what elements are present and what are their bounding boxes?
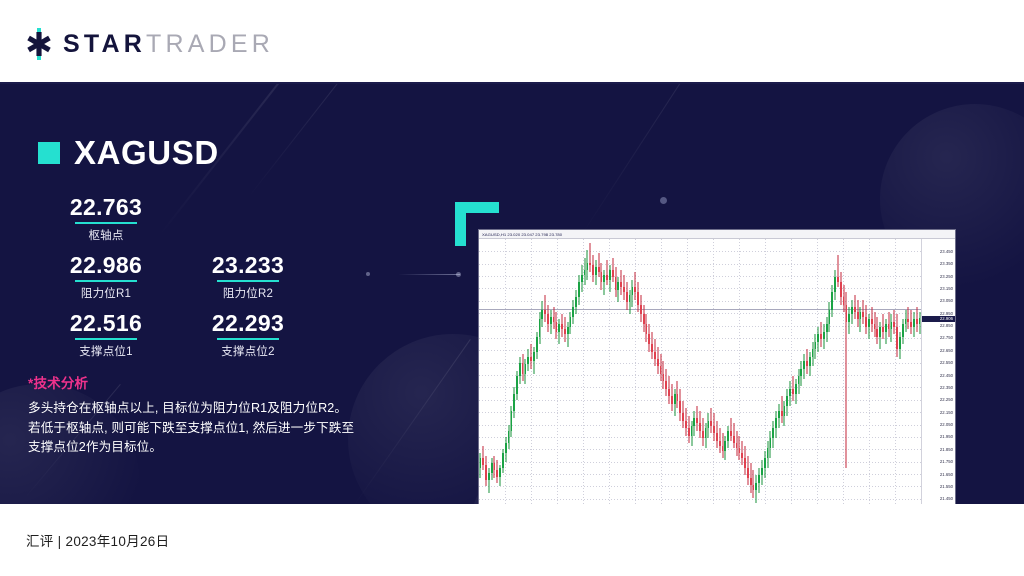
candle-body bbox=[682, 413, 684, 420]
candle-body bbox=[803, 361, 805, 368]
chart-candle bbox=[564, 239, 566, 504]
chart-candle bbox=[522, 239, 524, 504]
candle-body bbox=[817, 334, 819, 341]
candle-body bbox=[826, 324, 828, 331]
chart-candle bbox=[634, 239, 636, 504]
chart-price-axis[interactable]: 23.45023.35023.25023.15023.05022.95022.8… bbox=[921, 239, 955, 504]
candle-body bbox=[603, 275, 605, 282]
chart-candle bbox=[778, 239, 780, 504]
candle-body bbox=[612, 270, 614, 277]
chart-candle bbox=[806, 239, 808, 504]
chart-candle bbox=[485, 239, 487, 504]
candle-body bbox=[862, 312, 864, 317]
candle-body bbox=[876, 329, 878, 336]
chart-candle bbox=[902, 239, 904, 504]
candle-body bbox=[916, 319, 918, 324]
chart-candle bbox=[874, 239, 876, 504]
candle-body bbox=[722, 446, 724, 451]
candle-wick bbox=[545, 295, 546, 322]
candle-body bbox=[823, 332, 825, 339]
chart-plot-area[interactable] bbox=[479, 239, 921, 504]
resistance-row: 22.986 阻力位R1 23.233 阻力位R2 bbox=[38, 252, 318, 310]
level-r2: 23.233 阻力位R2 bbox=[192, 252, 304, 301]
diagonal-streak bbox=[580, 84, 706, 237]
chart-candle bbox=[668, 239, 670, 504]
chart-candle bbox=[913, 239, 915, 504]
brand-name-light: TRADER bbox=[146, 30, 274, 58]
candle-body bbox=[710, 421, 712, 426]
candle-wick bbox=[868, 314, 869, 339]
current-price-tag: 22.906 bbox=[921, 316, 955, 322]
chart-candle bbox=[891, 239, 893, 504]
chart-candle bbox=[820, 239, 822, 504]
price-tick-label: 23.450 bbox=[940, 249, 953, 254]
candle-body bbox=[544, 310, 546, 315]
candle-body bbox=[843, 297, 845, 304]
chart-candle bbox=[767, 239, 769, 504]
candle-body bbox=[837, 277, 839, 282]
candle-body bbox=[727, 431, 729, 441]
candle-body bbox=[567, 327, 569, 334]
chart-candle bbox=[840, 239, 842, 504]
candle-body bbox=[595, 267, 597, 274]
candle-body bbox=[899, 337, 901, 349]
candle-body bbox=[733, 436, 735, 443]
candle-body bbox=[632, 287, 634, 294]
candle-body bbox=[606, 275, 608, 280]
candle-body bbox=[572, 307, 574, 317]
chart-candle bbox=[812, 239, 814, 504]
candle-body bbox=[778, 411, 780, 418]
chart-candle bbox=[536, 239, 538, 504]
candle-body bbox=[589, 263, 591, 265]
chart-candle bbox=[609, 239, 611, 504]
candle-body bbox=[696, 418, 698, 423]
chart-candle bbox=[519, 239, 521, 504]
candle-body bbox=[581, 275, 583, 282]
level-underline bbox=[75, 280, 137, 282]
analysis-heading: *技术分析 bbox=[28, 372, 418, 392]
candle-wick bbox=[607, 260, 608, 285]
decor-dot bbox=[660, 197, 667, 204]
candle-wick bbox=[730, 418, 731, 440]
chart-candle bbox=[541, 239, 543, 504]
candle-body bbox=[891, 322, 893, 329]
chart-candle bbox=[691, 239, 693, 504]
candle-body bbox=[505, 443, 507, 453]
candlestick-chart-window[interactable]: XAGUSD,H1 23.020 23.047 23.798 23.780 23… bbox=[478, 229, 956, 504]
chart-candle bbox=[496, 239, 498, 504]
level-underline bbox=[217, 280, 279, 282]
chart-candle bbox=[857, 239, 859, 504]
chart-candle bbox=[632, 239, 634, 504]
chart-candle bbox=[643, 239, 645, 504]
candle-body bbox=[719, 441, 721, 446]
candle-body bbox=[905, 319, 907, 324]
chart-candle bbox=[584, 239, 586, 504]
chart-candle bbox=[865, 239, 867, 504]
chart-candle bbox=[716, 239, 718, 504]
chart-candle bbox=[744, 239, 746, 504]
candle-body bbox=[491, 463, 493, 473]
price-tick-label: 22.650 bbox=[940, 348, 953, 353]
chart-candle bbox=[798, 239, 800, 504]
price-tick-label: 21.550 bbox=[940, 484, 953, 489]
candle-body bbox=[840, 282, 842, 297]
candle-body bbox=[758, 475, 760, 482]
level-pivot-value: 22.763 bbox=[50, 194, 162, 221]
chart-candle bbox=[556, 239, 558, 504]
chart-candle bbox=[539, 239, 541, 504]
candle-body bbox=[617, 282, 619, 289]
chart-candle bbox=[626, 239, 628, 504]
chart-candle bbox=[679, 239, 681, 504]
candle-body bbox=[587, 263, 589, 270]
chart-candle bbox=[595, 239, 597, 504]
candle-body bbox=[609, 270, 611, 280]
chart-candle bbox=[688, 239, 690, 504]
chart-candle bbox=[617, 239, 619, 504]
candle-body bbox=[829, 310, 831, 325]
level-s1: 22.516 支撑点位1 bbox=[50, 310, 162, 359]
chart-candle bbox=[916, 239, 918, 504]
candle-body bbox=[640, 305, 642, 315]
technical-analysis-block: *技术分析 多头持仓在枢轴点以上, 目标位为阻力位R1及阻力位R2。 若低于枢轴… bbox=[28, 372, 418, 458]
chart-candle bbox=[705, 239, 707, 504]
chart-candle bbox=[612, 239, 614, 504]
chart-candle bbox=[803, 239, 805, 504]
chart-candle bbox=[499, 239, 501, 504]
price-tick-label: 22.150 bbox=[940, 410, 953, 415]
chart-candle bbox=[623, 239, 625, 504]
brand-name-bold: STAR bbox=[63, 30, 146, 58]
candle-body bbox=[784, 406, 786, 416]
chart-candle bbox=[581, 239, 583, 504]
chart-candle bbox=[657, 239, 659, 504]
chart-candle bbox=[713, 239, 715, 504]
price-tick-label: 22.850 bbox=[940, 323, 953, 328]
chart-candle bbox=[527, 239, 529, 504]
candle-wick bbox=[598, 253, 599, 278]
level-pivot-label: 枢轴点 bbox=[50, 227, 162, 243]
chart-candle bbox=[696, 239, 698, 504]
chart-candle bbox=[851, 239, 853, 504]
chart-candle bbox=[772, 239, 774, 504]
candle-body bbox=[522, 363, 524, 374]
chart-candle bbox=[660, 239, 662, 504]
chart-candle bbox=[550, 239, 552, 504]
chart-candle bbox=[885, 239, 887, 504]
candle-body bbox=[691, 426, 693, 436]
level-r2-label: 阻力位R2 bbox=[192, 285, 304, 301]
candle-body bbox=[626, 292, 628, 302]
candle-body bbox=[502, 453, 504, 468]
chart-candle bbox=[502, 239, 504, 504]
candle-body bbox=[575, 297, 577, 307]
chart-candle bbox=[775, 239, 777, 504]
chart-candle bbox=[702, 239, 704, 504]
candle-body bbox=[846, 305, 848, 322]
candle-body bbox=[674, 394, 676, 404]
level-pivot: 22.763 枢轴点 bbox=[50, 194, 162, 243]
candle-body bbox=[702, 431, 704, 438]
chart-candle bbox=[561, 239, 563, 504]
candle-body bbox=[764, 458, 766, 468]
chart-candle bbox=[654, 239, 656, 504]
chart-candle bbox=[733, 239, 735, 504]
analysis-line-2: 若低于枢轴点, 则可能下跌至支撑点位1, 然后进一步下跌至 bbox=[28, 419, 418, 439]
candle-body bbox=[530, 357, 532, 362]
price-tick-label: 21.850 bbox=[940, 447, 953, 452]
chart-candle bbox=[724, 239, 726, 504]
candle-body bbox=[781, 411, 783, 416]
candle-body bbox=[761, 468, 763, 475]
price-tick-label: 23.350 bbox=[940, 261, 953, 266]
chart-candle bbox=[739, 239, 741, 504]
chart-candle bbox=[480, 239, 482, 504]
chart-candle bbox=[671, 239, 673, 504]
candle-body bbox=[513, 394, 515, 411]
candle-body bbox=[592, 265, 594, 275]
candle-body bbox=[812, 349, 814, 356]
page-footer: 汇评 | 2023年10月26日 bbox=[0, 504, 1024, 576]
chart-title: XAGUSD,H1 23.020 23.047 23.798 23.780 bbox=[482, 231, 562, 239]
candle-body bbox=[634, 287, 636, 292]
chart-candle bbox=[640, 239, 642, 504]
candle-body bbox=[527, 357, 529, 364]
candle-body bbox=[519, 363, 521, 377]
chart-candle bbox=[651, 239, 653, 504]
title-accent-square-icon bbox=[38, 142, 60, 164]
candle-body bbox=[668, 389, 670, 396]
candle-body bbox=[643, 314, 645, 324]
candle-body bbox=[584, 270, 586, 275]
candle-body bbox=[533, 352, 535, 362]
chart-candle bbox=[781, 239, 783, 504]
candle-body bbox=[871, 319, 873, 324]
chart-candle bbox=[648, 239, 650, 504]
level-underline bbox=[75, 338, 137, 340]
candle-body bbox=[755, 483, 757, 490]
candle-body bbox=[713, 426, 715, 433]
chart-candle bbox=[837, 239, 839, 504]
chart-candle bbox=[587, 239, 589, 504]
level-underline bbox=[75, 222, 137, 224]
candle-body bbox=[541, 310, 543, 320]
chart-candle bbox=[876, 239, 878, 504]
candle-body bbox=[767, 448, 769, 458]
chart-candle bbox=[784, 239, 786, 504]
candle-body bbox=[536, 337, 538, 352]
chart-candle bbox=[575, 239, 577, 504]
chart-candle bbox=[558, 239, 560, 504]
chart-candle bbox=[764, 239, 766, 504]
chart-candle bbox=[868, 239, 870, 504]
chart-candle bbox=[862, 239, 864, 504]
candle-wick bbox=[781, 396, 782, 423]
price-tick-label: 23.250 bbox=[940, 274, 953, 279]
candle-wick bbox=[590, 243, 591, 273]
candle-body bbox=[539, 319, 541, 336]
chart-candle bbox=[747, 239, 749, 504]
candle-wick bbox=[567, 322, 568, 347]
chart-candle bbox=[693, 239, 695, 504]
level-s1-label: 支撑点位1 bbox=[50, 343, 162, 359]
chart-candle bbox=[831, 239, 833, 504]
chart-candle bbox=[829, 239, 831, 504]
chart-candle bbox=[846, 239, 848, 504]
chart-candle bbox=[544, 239, 546, 504]
candle-body bbox=[679, 401, 681, 413]
chart-candle bbox=[682, 239, 684, 504]
candle-body bbox=[482, 458, 484, 465]
chart-candle bbox=[823, 239, 825, 504]
candle-body bbox=[798, 376, 800, 383]
candle-body bbox=[688, 428, 690, 435]
candle-body bbox=[620, 282, 622, 287]
chart-candle bbox=[663, 239, 665, 504]
page-title: XAGUSD bbox=[74, 134, 219, 172]
candle-body bbox=[677, 394, 679, 401]
chart-candle bbox=[685, 239, 687, 504]
candle-body bbox=[660, 366, 662, 373]
decor-hairline bbox=[398, 274, 460, 275]
candle-body bbox=[637, 292, 639, 304]
candle-body bbox=[795, 384, 797, 394]
chart-candle bbox=[843, 239, 845, 504]
chart-candle bbox=[888, 239, 890, 504]
chart-candle bbox=[817, 239, 819, 504]
candle-body bbox=[657, 359, 659, 366]
chart-titlebar: XAGUSD,H1 23.020 23.047 23.798 23.780 bbox=[479, 230, 955, 239]
candle-body bbox=[629, 295, 631, 302]
candle-body bbox=[865, 317, 867, 327]
chart-candle bbox=[629, 239, 631, 504]
candle-wick bbox=[635, 272, 636, 299]
candle-body bbox=[848, 314, 850, 321]
chart-candle bbox=[730, 239, 732, 504]
candle-body bbox=[868, 319, 870, 326]
chart-candle bbox=[800, 239, 802, 504]
content-stage: XAGUSD 22.763 枢轴点 22.986 阻力位R1 23.233 bbox=[0, 84, 1024, 504]
candle-body bbox=[815, 342, 817, 349]
brand-logo[interactable]: ✱ STARTRADER bbox=[24, 28, 274, 60]
candle-body bbox=[651, 344, 653, 351]
candle-wick bbox=[908, 307, 909, 329]
level-s2-label: 支撑点位2 bbox=[192, 343, 304, 359]
candle-body bbox=[646, 324, 648, 334]
chart-candle bbox=[893, 239, 895, 504]
candle-body bbox=[792, 389, 794, 394]
price-tick-label: 21.750 bbox=[940, 459, 953, 464]
candle-body bbox=[564, 329, 566, 334]
footer-text: 汇评 | 2023年10月26日 bbox=[26, 530, 169, 550]
logo-asterisk-glyph: ✱ bbox=[24, 32, 54, 57]
candle-body bbox=[879, 327, 881, 337]
price-tick-label: 22.350 bbox=[940, 385, 953, 390]
level-r1-value: 22.986 bbox=[50, 252, 162, 279]
candle-body bbox=[480, 458, 482, 468]
candle-body bbox=[750, 478, 752, 485]
candle-body bbox=[561, 324, 563, 329]
candle-body bbox=[547, 314, 549, 324]
candle-body bbox=[789, 389, 791, 396]
candle-body bbox=[516, 376, 518, 393]
candle-body bbox=[663, 374, 665, 381]
chart-candle bbox=[879, 239, 881, 504]
chart-candle bbox=[513, 239, 515, 504]
chart-candle bbox=[505, 239, 507, 504]
candle-body bbox=[648, 334, 650, 344]
candle-body bbox=[820, 334, 822, 339]
bracket-arm-vertical bbox=[455, 202, 466, 246]
candle-body bbox=[494, 463, 496, 470]
chart-candle bbox=[795, 239, 797, 504]
candle-body bbox=[806, 361, 808, 366]
chart-candle bbox=[848, 239, 850, 504]
level-r1-label: 阻力位R1 bbox=[50, 285, 162, 301]
chart-candle bbox=[753, 239, 755, 504]
pivot-row: 22.763 枢轴点 bbox=[38, 194, 318, 252]
level-r1: 22.986 阻力位R1 bbox=[50, 252, 162, 301]
chart-candle bbox=[665, 239, 667, 504]
candle-body bbox=[488, 473, 490, 480]
candle-body bbox=[741, 453, 743, 458]
chart-candle bbox=[905, 239, 907, 504]
candle-body bbox=[708, 421, 710, 428]
candle-body bbox=[834, 277, 836, 292]
chart-candle bbox=[615, 239, 617, 504]
candle-body bbox=[800, 369, 802, 376]
candle-body bbox=[809, 357, 811, 367]
chart-candle bbox=[815, 239, 817, 504]
candle-body bbox=[860, 312, 862, 319]
candle-body bbox=[913, 319, 915, 326]
level-s2-value: 22.293 bbox=[192, 310, 304, 337]
chart-candle bbox=[708, 239, 710, 504]
chart-candle bbox=[834, 239, 836, 504]
price-tick-label: 21.950 bbox=[940, 434, 953, 439]
chart-candle bbox=[854, 239, 856, 504]
candle-body bbox=[744, 458, 746, 468]
candle-body bbox=[786, 396, 788, 406]
chart-candle bbox=[547, 239, 549, 504]
analysis-body: 多头持仓在枢轴点以上, 目标位为阻力位R1及阻力位R2。 若低于枢轴点, 则可能… bbox=[28, 399, 418, 458]
candle-body bbox=[874, 324, 876, 329]
chart-candle bbox=[601, 239, 603, 504]
candle-body bbox=[578, 282, 580, 297]
analysis-line-1: 多头持仓在枢轴点以上, 目标位为阻力位R1及阻力位R2。 bbox=[28, 399, 418, 419]
chart-candle bbox=[511, 239, 513, 504]
candle-body bbox=[671, 396, 673, 403]
page-header: ✱ STARTRADER bbox=[0, 0, 1024, 84]
price-tick-label: 22.050 bbox=[940, 422, 953, 427]
price-tick-label: 21.650 bbox=[940, 472, 953, 477]
chart-candle bbox=[896, 239, 898, 504]
candle-body bbox=[854, 307, 856, 312]
chart-candle bbox=[677, 239, 679, 504]
candle-body bbox=[907, 319, 909, 321]
chart-candle bbox=[809, 239, 811, 504]
chart-candle bbox=[755, 239, 757, 504]
candle-body bbox=[558, 324, 560, 331]
chart-candle bbox=[910, 239, 912, 504]
price-tick-label: 23.150 bbox=[940, 286, 953, 291]
candle-body bbox=[736, 443, 738, 448]
chart-candle bbox=[491, 239, 493, 504]
candle-body bbox=[747, 468, 749, 478]
candle-body bbox=[910, 322, 912, 327]
